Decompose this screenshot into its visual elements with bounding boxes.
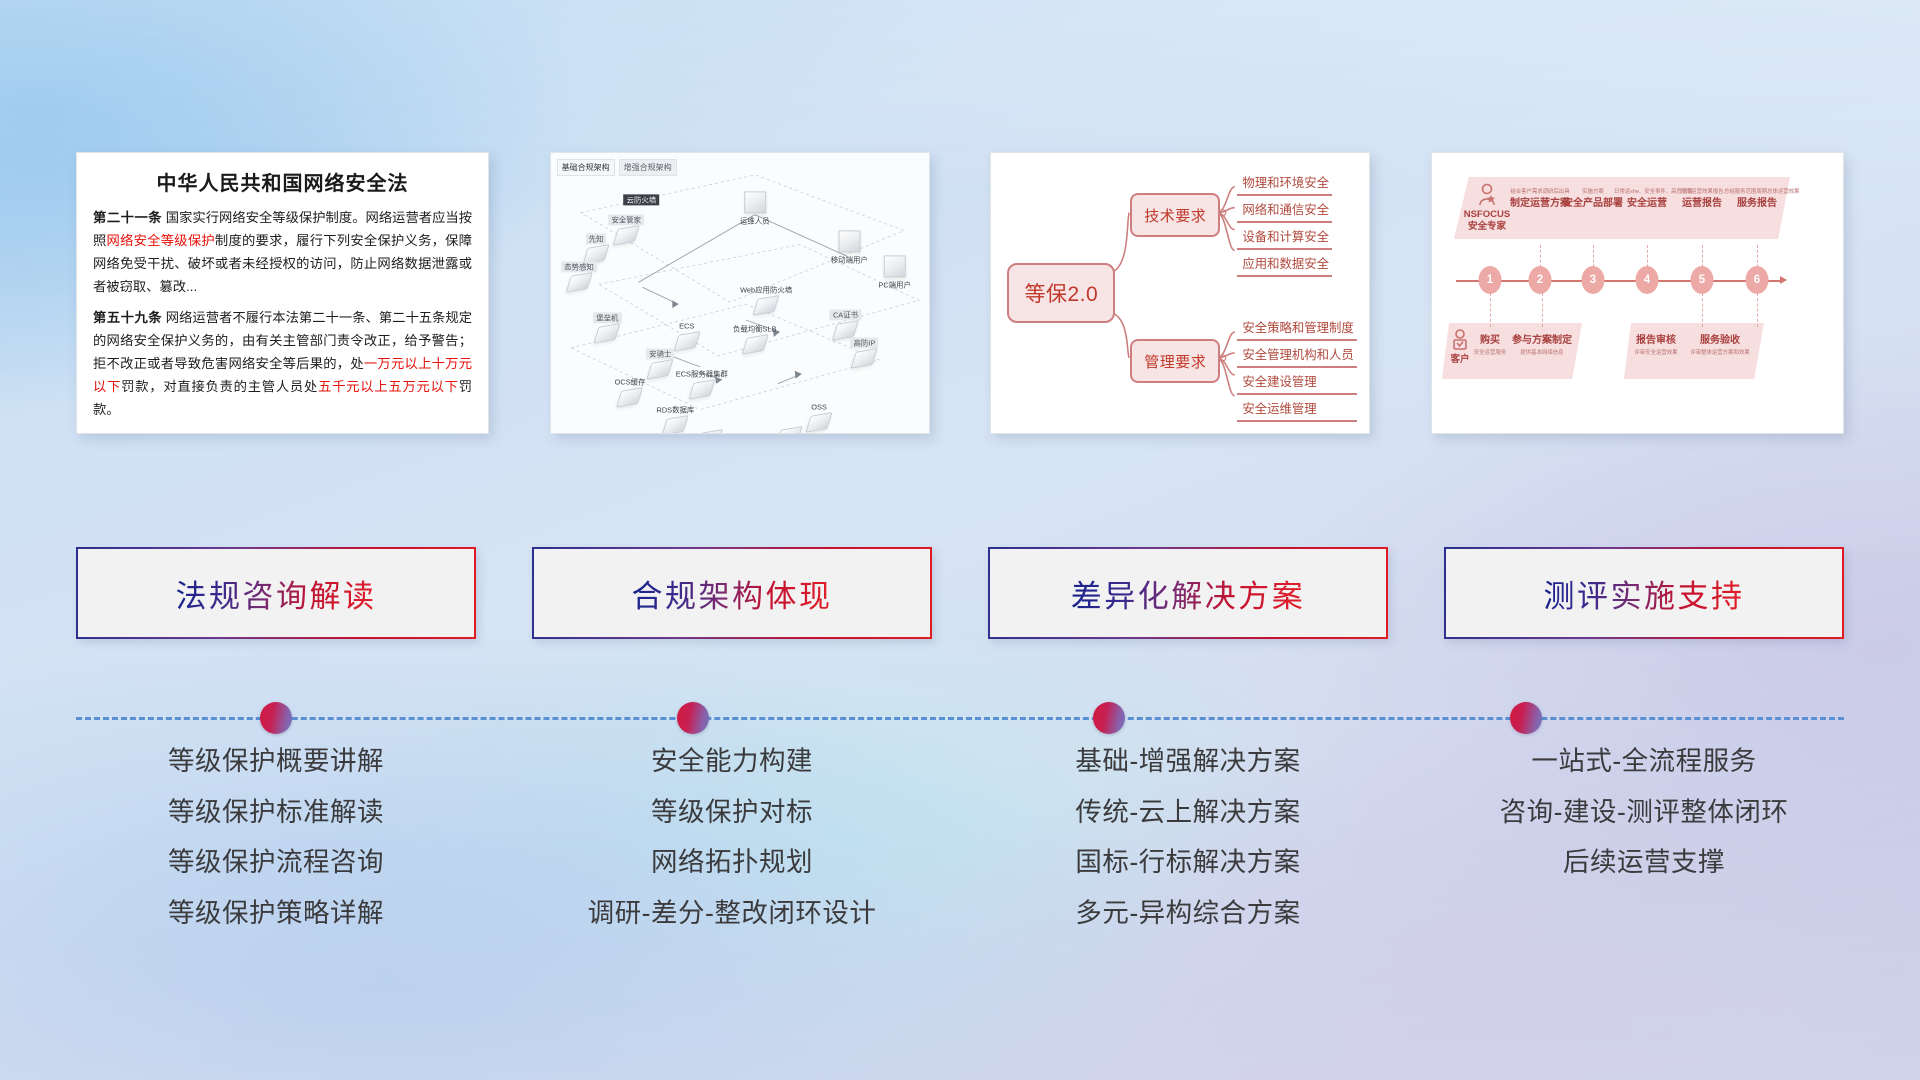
nsfocus-step-main: 参与方案制定 — [1509, 335, 1575, 347]
server-icon — [616, 387, 643, 408]
server-icon — [647, 359, 674, 380]
nsfocus-step-sub: 总结服务范围周期总体运营效果 — [1724, 189, 1790, 195]
arch-node-bastion-host: 堡垒机 — [593, 312, 621, 341]
mindmap-leaf: 安全建设管理 — [1237, 373, 1357, 395]
arch-node-situational-awareness: 态势感知 — [561, 262, 597, 291]
mindmap-leaves-technical: 物理和环境安全 网络和通信安全 设备和计算安全 应用和数据安全 — [1237, 174, 1332, 282]
detail-item: 一站式-全流程服务 — [1531, 748, 1756, 775]
mindmap-leaf: 应用和数据安全 — [1237, 255, 1332, 277]
server-icon — [613, 225, 640, 246]
nsfocus-step-sub: 提供基本网络信息 — [1509, 350, 1575, 356]
arch-node-rds: RDS数据库 — [654, 404, 698, 433]
arch-node-waf: Web应用防火墙 — [737, 284, 795, 313]
arch-node-ecs: ECS — [676, 320, 698, 349]
nsfocus-bullet-2: 2 — [1528, 266, 1551, 294]
arch-node-xianzhi: 先知 — [585, 234, 607, 263]
timeline — [76, 698, 1844, 738]
mindmap-leaf: 网络和通信安全 — [1237, 201, 1332, 223]
nsfocus-bullet-3: 3 — [1581, 266, 1604, 294]
server-icon — [688, 379, 715, 400]
law-card-title: 中华人民共和国网络安全法 — [93, 167, 472, 196]
nsfocus-step-main: 报告审核 — [1623, 335, 1689, 347]
law-article-21: 第二十一条 国家实行网络安全等级保护制度。网络运营者应当按照网络安全等级保护制度… — [93, 207, 472, 298]
architecture-tab-bar: 基础合规架构 增强合规架构 — [557, 159, 677, 176]
mindmap-leaf: 安全策略和管理制度 — [1237, 319, 1357, 341]
arch-node-ecs-cluster: ECS服务器集群 — [673, 368, 731, 397]
arch-node-label: RDS数据库 — [654, 404, 698, 415]
mobile-icon — [838, 231, 860, 253]
law-article-59-label: 第五十九条 — [93, 310, 162, 325]
arch-node-label: 高防IP — [851, 337, 879, 348]
mindmap-branch-management: 管理要求 — [1130, 339, 1220, 383]
arch-node-label: CA证书 — [830, 309, 861, 320]
nsfocus-bullet-5: 5 — [1690, 266, 1713, 294]
nsfocus-expert-role: 安全专家 — [1460, 221, 1514, 233]
thumbnail-law-card[interactable]: 中华人民共和国网络安全法 第二十一条 国家实行网络安全等级保护制度。网络运营者应… — [76, 152, 489, 434]
mindmap-leaves-management: 安全策略和管理制度 安全管理机构和人员 安全建设管理 安全运维管理 — [1237, 319, 1357, 427]
nsfocus-step-top-6: 总结服务范围周期总体运营效果 服务报告 — [1724, 189, 1790, 210]
arch-node-slb: 负载均衡SLB — [730, 323, 780, 352]
arch-node-label: Web应用防火墙 — [737, 284, 795, 295]
banner-assessment-support[interactable]: 测评实施支持 — [1444, 547, 1844, 639]
detail-item: 等级保护标准解读 — [168, 799, 384, 826]
nsfocus-axis-line — [1456, 280, 1782, 282]
law-article-21-seg-1: 网络安全等级保护 — [107, 233, 215, 248]
arch-node-label: 堡垒机 — [593, 312, 621, 323]
nsfocus-axis-arrow-icon — [1780, 276, 1787, 284]
architecture-tab-basic[interactable]: 基础合规架构 — [557, 159, 615, 176]
arch-node-security-butler: 安全管家 — [608, 214, 644, 243]
detail-column-assessment-support: 一站式-全流程服务 咨询-建设-测评整体闭环 后续运营支撑 — [1444, 748, 1844, 950]
arch-node-db-audit: 数据库审计 — [688, 431, 731, 434]
timeline-dot-3[interactable] — [1093, 702, 1125, 734]
nsfocus-connector — [1757, 293, 1758, 327]
detail-row: 等级保护概要讲解 等级保护标准解读 等级保护流程咨询 等级保护策略详解 安全能力… — [0, 748, 1920, 950]
nsfocus-step-main: 服务验收 — [1687, 335, 1753, 347]
nsfocus-bullet-1: 1 — [1478, 266, 1501, 294]
mindmap-leaf: 物理和环境安全 — [1237, 174, 1332, 196]
server-icon — [741, 334, 768, 355]
nsfocus-step-bottom-5: 报告审核 评审安全运营效果 — [1623, 335, 1689, 356]
detail-item: 等级保护概要讲解 — [168, 748, 384, 775]
detail-item: 安全能力构建 — [651, 748, 813, 775]
mindmap-leaf: 安全管理机构和人员 — [1237, 346, 1357, 368]
server-icon — [851, 348, 878, 369]
arch-node-label: 安骑士 — [646, 348, 674, 359]
detail-column-regulation-consulting: 等级保护概要讲解 等级保护标准解读 等级保护流程咨询 等级保护策略详解 — [76, 748, 476, 950]
arch-node-mobile-user: 移动端用户 — [828, 231, 871, 266]
detail-item: 国标-行标解决方案 — [1075, 849, 1300, 876]
detail-item: 等级保护策略详解 — [168, 900, 384, 927]
mindmap-leaf: 安全运维管理 — [1237, 400, 1357, 422]
nsfocus-connector — [1490, 293, 1491, 327]
arch-node-ocs-cache: OCS缓存 — [612, 376, 649, 405]
arch-node-anti-ddos-ip: 高防IP — [851, 337, 879, 366]
timeline-dot-1[interactable] — [260, 702, 292, 734]
arch-node-vpc: VPC — [778, 429, 800, 434]
detail-item: 多元-异构综合方案 — [1075, 900, 1300, 927]
detail-item: 咨询-建设-测评整体闭环 — [1500, 799, 1789, 826]
detail-item: 后续运营支撑 — [1563, 849, 1725, 876]
arch-node-ops-staff: 运维人员 — [737, 191, 773, 226]
arch-node-ca-cert: CA证书 — [830, 309, 861, 338]
timeline-dashed-line — [76, 717, 1844, 720]
detail-column-compliance-architecture: 安全能力构建 等级保护对标 网络拓扑规划 调研-差分-整改闭环设计 — [532, 748, 932, 950]
thumbnail-row: 中华人民共和国网络安全法 第二十一条 国家实行网络安全等级保护制度。网络运营者应… — [0, 152, 1920, 442]
server-icon — [673, 331, 700, 352]
law-article-59-seg-2: 罚款，对直接负责的主管人员处 — [121, 379, 318, 394]
arch-node-label: ECS — [676, 320, 697, 331]
detail-item: 等级保护对标 — [651, 799, 813, 826]
arch-node-label: ECS服务器集群 — [673, 368, 731, 379]
banner-label: 测评实施支持 — [1544, 571, 1745, 616]
arch-node-anqishi: 安骑士 — [646, 348, 674, 377]
server-icon — [753, 295, 780, 316]
arch-node-oss: OSS — [808, 402, 830, 431]
law-article-59: 第五十九条 网络运营者不履行本法第二十一条、第二十五条规定的网络安全保护义务的，… — [93, 307, 472, 421]
banner-label: 法规咨询解读 — [176, 571, 377, 616]
architecture-tab-enhanced[interactable]: 增强合规架构 — [619, 159, 677, 176]
storage-icon — [805, 412, 832, 433]
arch-node-label: 运维人员 — [737, 215, 773, 226]
desktop-icon — [884, 256, 906, 278]
detail-item: 网络拓扑规划 — [651, 849, 813, 876]
banner-label: 合规架构体现 — [632, 571, 833, 616]
nsfocus-step-main: 服务报告 — [1724, 198, 1790, 210]
thumbnail-mindmap-card[interactable]: 等保2.0 技术要求 管理要求 物理和环境安全 网络和通信安全 设备和计算安全 … — [990, 152, 1370, 434]
timeline-dot-4[interactable] — [1510, 702, 1542, 734]
arch-node-label: 移动端用户 — [828, 255, 871, 266]
arch-node-pc-user: PC端用户 — [875, 256, 913, 291]
detail-column-differentiated-solution: 基础-增强解决方案 传统-云上解决方案 国标-行标解决方案 多元-异构综合方案 — [988, 748, 1388, 950]
arch-node-label: 安全管家 — [608, 214, 644, 225]
mindmap-leaf: 设备和计算安全 — [1237, 228, 1332, 250]
expert-avatar-icon — [1476, 183, 1498, 207]
arch-node-label: 负载均衡SLB — [730, 323, 780, 334]
law-article-21-label: 第二十一条 — [93, 210, 162, 225]
arch-node-label: 先知 — [586, 234, 607, 245]
mindmap-root-node: 等保2.0 — [1007, 263, 1115, 323]
monitor-icon — [744, 191, 766, 213]
nsfocus-expert-label: NSFOCUS 安全专家 — [1460, 209, 1514, 233]
nsfocus-step-sub: 评审安全运营效果 — [1623, 350, 1689, 356]
detail-item: 传统-云上解决方案 — [1075, 799, 1300, 826]
banner-regulation-consulting[interactable]: 法规咨询解读 — [76, 547, 476, 639]
nsfocus-step-bottom-2: 参与方案制定 提供基本网络信息 — [1509, 335, 1575, 356]
arch-node-label: 云防火墙 — [624, 194, 660, 205]
banner-compliance-architecture[interactable]: 合规架构体现 — [532, 547, 932, 639]
nsfocus-bullet-4: 4 — [1635, 266, 1658, 294]
arch-node-label: OCS缓存 — [612, 376, 649, 387]
nsfocus-step-sub: 评审整体运营方案和效果 — [1687, 350, 1753, 356]
server-icon — [594, 323, 621, 344]
banner-row: 法规咨询解读 合规架构体现 差异化解决方案 测评实施支持 — [0, 547, 1920, 639]
nsfocus-connector — [1542, 293, 1543, 327]
law-article-59-seg-3: 五千元以上五万元以下 — [318, 379, 459, 394]
detail-item: 基础-增强解决方案 — [1075, 748, 1300, 775]
nsfocus-step-bottom-6: 服务验收 评审整体运营方案和效果 — [1687, 335, 1753, 356]
detail-item: 等级保护流程咨询 — [168, 849, 384, 876]
database-icon — [662, 415, 689, 434]
thumbnail-architecture-card[interactable]: 基础合规架构 增强合规架构 — [550, 152, 930, 434]
detail-item: 调研-差分-整改闭环设计 — [588, 900, 877, 927]
arch-node-cloud-firewall: 云防火墙 — [624, 194, 660, 207]
nsfocus-connector — [1702, 293, 1703, 327]
arch-node-label: PC端用户 — [875, 280, 913, 291]
nsfocus-bullet-6: 6 — [1745, 266, 1768, 294]
mindmap-branch-technical: 技术要求 — [1130, 193, 1220, 237]
arch-node-label: OSS — [808, 402, 830, 413]
server-icon — [565, 272, 592, 293]
banner-label: 差异化解决方案 — [1071, 571, 1306, 616]
timeline-dot-2[interactable] — [677, 702, 709, 734]
nsfocus-expert-name: NSFOCUS — [1460, 209, 1514, 221]
banner-differentiated-solution[interactable]: 差异化解决方案 — [988, 547, 1388, 639]
thumbnail-nsfocus-card[interactable]: NSFOCUS 安全专家 客户 结合客户需求调研后出具 制定运营方案 实施方案 … — [1431, 152, 1844, 434]
